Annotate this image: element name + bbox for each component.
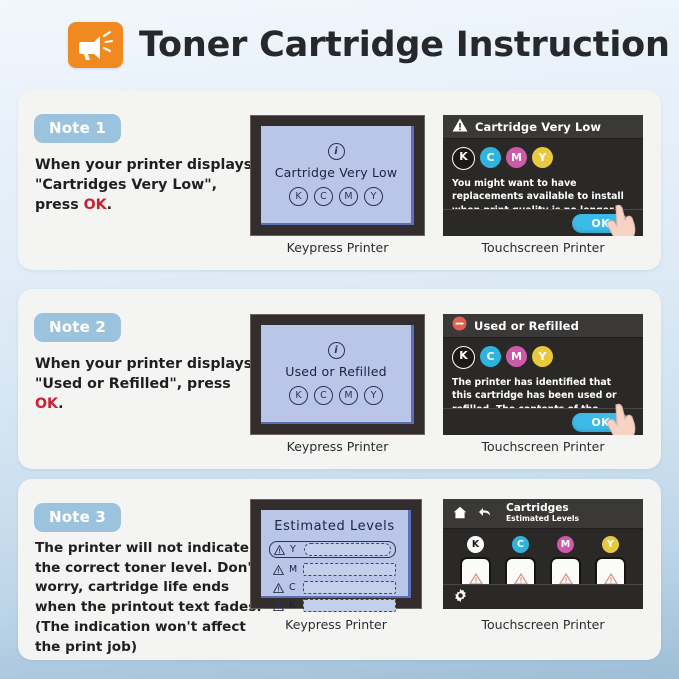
caption-touchscreen-1: Touchscreen Printer: [443, 240, 643, 255]
megaphone-icon: [68, 22, 123, 68]
cmyk-dot-k: K: [289, 187, 308, 206]
warning-triangle-icon: [273, 578, 284, 597]
warning-triangle-icon: [274, 540, 285, 559]
level-bar-k: [303, 599, 396, 612]
level-row-y: Y: [269, 541, 396, 558]
level-label-m: M: [289, 564, 298, 575]
tank-chip-c: C: [512, 536, 529, 553]
keypress-cmyk-dots-2: K C M Y: [289, 386, 383, 405]
cmyk-dot-c: C: [314, 386, 333, 405]
caption-keypress-2: Keypress Printer: [250, 439, 425, 454]
cmyk-dot-c: C: [314, 187, 333, 206]
estimated-levels-title: Estimated Levels: [273, 519, 396, 534]
level-bar-y: [304, 543, 391, 556]
keypress-printer-1: i Cartridge Very Low K C M Y: [250, 115, 425, 236]
cmyk-dot-m: M: [339, 386, 358, 405]
info-icon: i: [328, 342, 345, 359]
note-card-2: Note 2 When your printer displays "Used …: [18, 289, 661, 469]
note-1-ok-keyword: OK: [84, 197, 107, 213]
level-row-k: K: [273, 599, 396, 612]
info-icon: i: [328, 143, 345, 160]
level-bar-c: [303, 581, 396, 594]
note-text-2: When your printer displays "Used or Refi…: [35, 354, 260, 414]
caption-touchscreen-3: Touchscreen Printer: [443, 617, 643, 632]
note-badge-2: Note 2: [34, 313, 121, 342]
touchscreen-printer-1: Cartridge Very Low K C M Y You might wan…: [443, 115, 643, 236]
warning-triangle-icon: [273, 596, 284, 615]
level-row-c: C: [273, 581, 396, 594]
note-2-period: .: [58, 396, 63, 412]
home-icon[interactable]: [453, 504, 467, 523]
keypress-cmyk-dots-1: K C M Y: [289, 187, 383, 206]
keypress-printer-3: Estimated Levels Y M: [250, 499, 422, 609]
cmyk-chip-m: M: [506, 147, 527, 168]
warning-triangle-icon: [452, 117, 468, 136]
keypress-screen-3: Estimated Levels Y M: [261, 510, 411, 598]
cartridges-subtitle: Estimated Levels: [506, 515, 579, 524]
keypress-screen-1: i Cartridge Very Low K C M Y: [261, 126, 414, 225]
cmyk-chip-m: M: [506, 346, 527, 367]
keypress-screen-2: i Used or Refilled K C M Y: [261, 325, 414, 424]
touchscreen-titlebar-1: Cartridge Very Low: [443, 115, 643, 139]
keypress-printer-2: i Used or Refilled K C M Y: [250, 314, 425, 435]
note-text-1: When your printer displays "Cartridges V…: [35, 155, 260, 215]
keypress-message-1: Cartridge Very Low: [275, 165, 398, 180]
touchscreen-title-1: Cartridge Very Low: [475, 120, 601, 134]
level-label-y: Y: [290, 544, 299, 555]
cmyk-chip-k: K: [452, 346, 475, 369]
cmyk-chip-k: K: [452, 147, 475, 170]
cmyk-chips-2: K C M Y: [452, 346, 634, 369]
level-label-k: K: [289, 600, 298, 611]
warning-triangle-icon: [273, 560, 284, 579]
cmyk-dot-y: Y: [364, 187, 383, 206]
cartridges-title-group: Cartridges Estimated Levels: [506, 503, 579, 523]
note-1-line-1: When your printer displays: [35, 157, 252, 173]
note-2-ok-keyword: OK: [35, 396, 58, 412]
page-header: Toner Cartridge Instruction: [68, 22, 670, 68]
hand-cursor-icon: [605, 403, 639, 435]
hand-cursor-icon: [605, 204, 639, 236]
instruction-poster: Toner Cartridge Instruction Note 1 When …: [0, 0, 679, 679]
cartridges-titlebar: Cartridges Estimated Levels: [443, 499, 643, 529]
caption-keypress-1: Keypress Printer: [250, 240, 425, 255]
note-1-period: .: [107, 197, 112, 213]
tank-chip-m: M: [557, 536, 574, 553]
note-text-3: The printer will not indicate the correc…: [35, 539, 267, 657]
cmyk-chip-y: Y: [532, 346, 553, 367]
note-card-3: Note 3 The printer will not indicate the…: [18, 479, 661, 660]
note-card-1: Note 1 When your printer displays "Cartr…: [18, 90, 661, 270]
level-label-c: C: [289, 582, 298, 593]
touchscreen-titlebar-2: Used or Refilled: [443, 314, 643, 338]
cmyk-dot-y: Y: [364, 386, 383, 405]
caption-touchscreen-2: Touchscreen Printer: [443, 439, 643, 454]
level-row-m: M: [273, 563, 396, 576]
minus-circle-icon: [452, 316, 467, 335]
note-badge-3: Note 3: [34, 503, 121, 532]
caption-keypress-3: Keypress Printer: [250, 617, 422, 632]
cmyk-dot-k: K: [289, 386, 308, 405]
page-title: Toner Cartridge Instruction: [139, 25, 670, 65]
touchscreen-printer-3: Cartridges Estimated Levels K C: [443, 499, 643, 609]
cmyk-chip-y: Y: [532, 147, 553, 168]
back-arrow-icon[interactable]: [477, 504, 492, 523]
tank-chip-k: K: [467, 536, 484, 553]
tank-chip-y: Y: [602, 536, 619, 553]
cartridges-footer: [443, 584, 643, 609]
note-2-line-1: When your printer displays: [35, 356, 252, 372]
cmyk-chip-c: C: [480, 147, 501, 168]
cmyk-chip-c: C: [480, 346, 501, 367]
note-badge-1: Note 1: [34, 114, 121, 143]
note-2-line-2: "Used or Refilled", press: [35, 376, 231, 392]
touchscreen-printer-2: Used or Refilled K C M Y The printer has…: [443, 314, 643, 435]
keypress-message-2: Used or Refilled: [285, 364, 386, 379]
gear-icon[interactable]: [453, 588, 468, 607]
note-1-line-2: "Cartridges Very Low", press: [35, 177, 217, 213]
cmyk-chips-1: K C M Y: [452, 147, 634, 170]
level-bar-m: [303, 563, 396, 576]
touchscreen-title-2: Used or Refilled: [474, 319, 579, 333]
cmyk-dot-m: M: [339, 187, 358, 206]
